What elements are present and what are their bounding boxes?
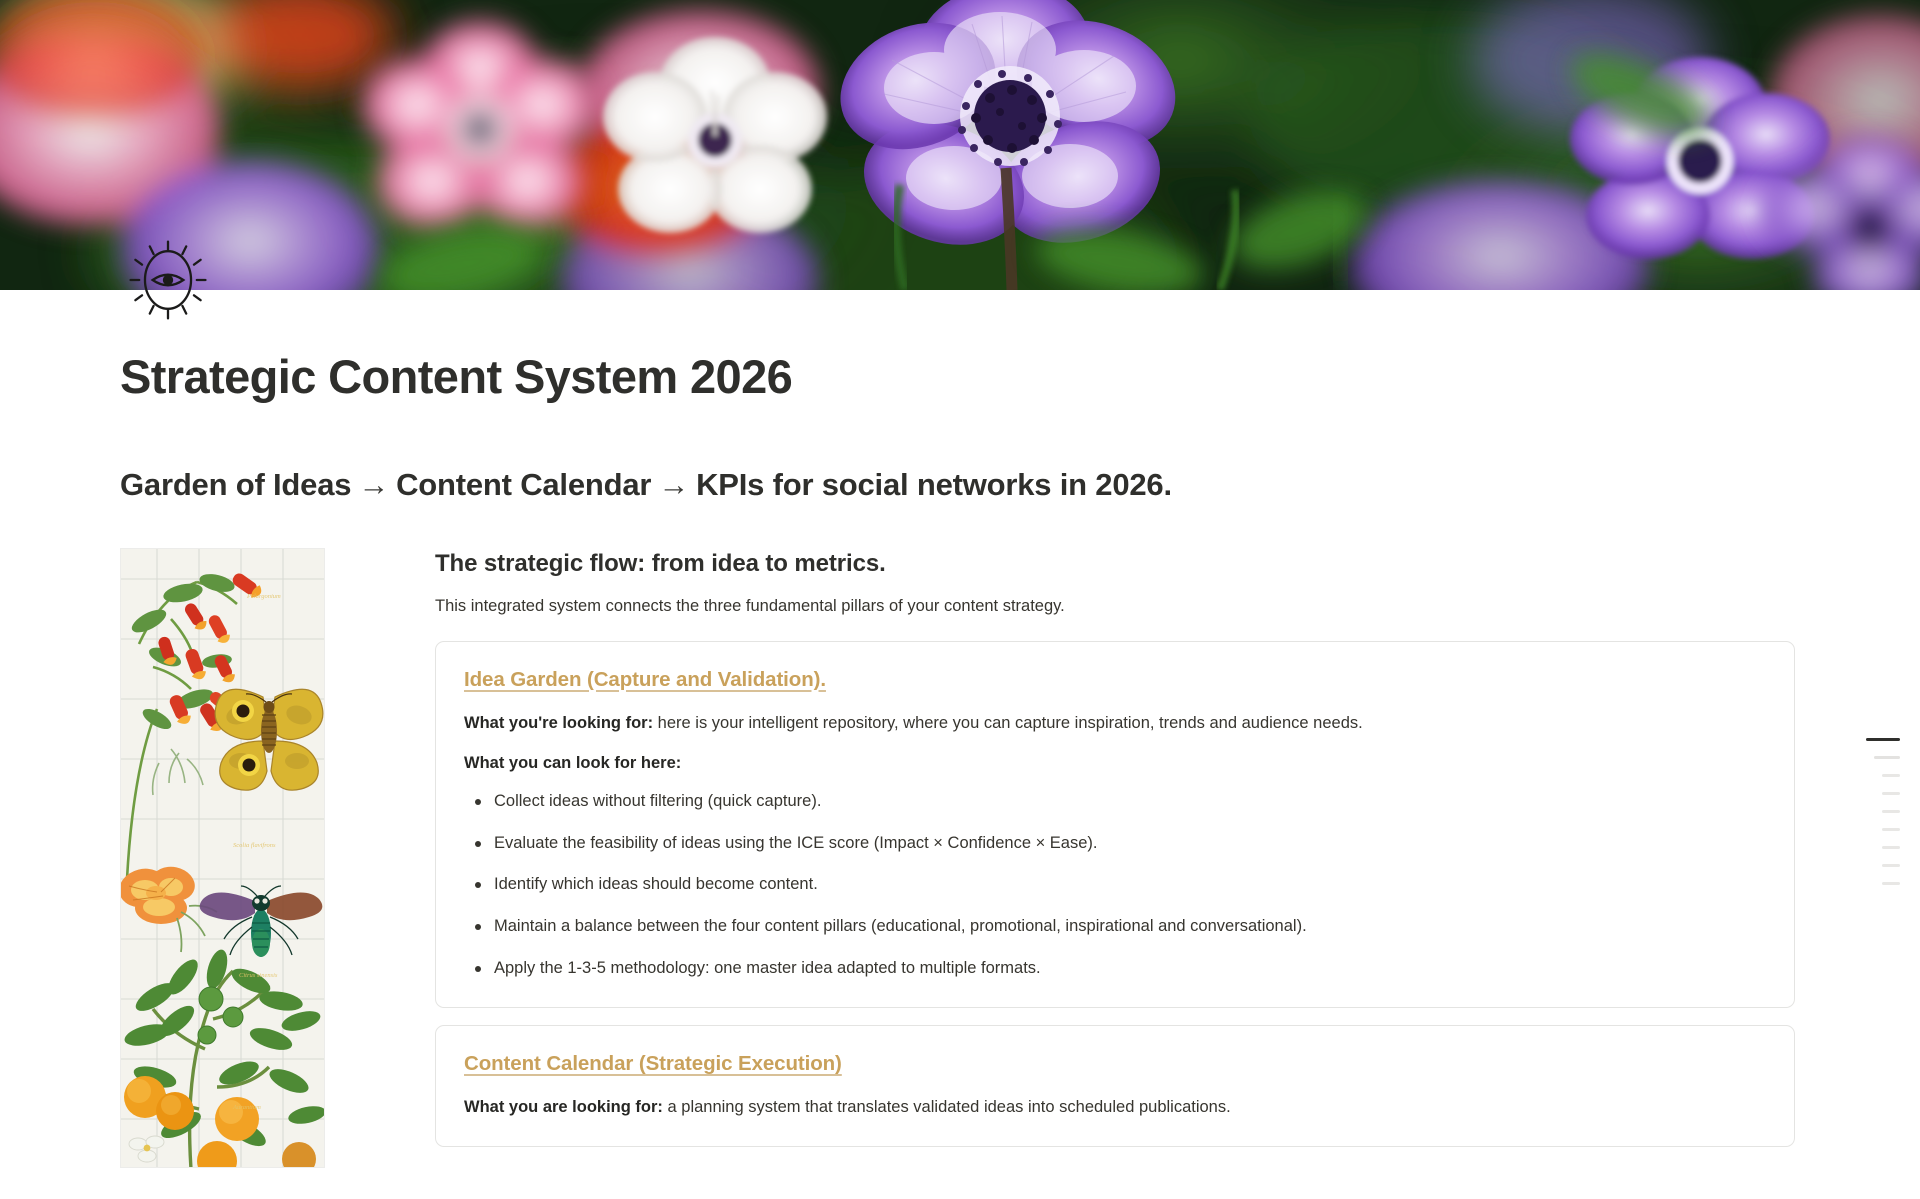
card-lead-paragraph: What you are looking for: a planning sys… xyxy=(464,1096,1764,1120)
card-lead-paragraph: What you're looking for: here is your in… xyxy=(464,712,1764,736)
toc-dash xyxy=(1866,738,1900,741)
list-item: Apply the 1-3-5 methodology: one master … xyxy=(464,957,1764,981)
card-lead-text: a planning system that translates valida… xyxy=(663,1098,1231,1116)
page-body: Strategic Content System 2026 Garden of … xyxy=(0,290,1920,1168)
card-lead-label: What you are looking for: xyxy=(464,1098,663,1116)
right-column: The strategic flow: from idea to metrics… xyxy=(325,548,1800,1147)
list-item: Collect ideas without filtering (quick c… xyxy=(464,790,1764,814)
cover-image xyxy=(0,0,1920,290)
breadcrumb-item-kpis[interactable]: KPIs for social networks in 2026. xyxy=(696,467,1172,502)
section-title: The strategic flow: from idea to metrics… xyxy=(435,548,1795,579)
svg-text:Scolia flavifrons: Scolia flavifrons xyxy=(233,842,276,849)
toc-item-4[interactable] xyxy=(1882,802,1910,820)
toc-dash xyxy=(1882,810,1900,813)
breadcrumb: Garden of Ideas→Content Calendar→KPIs fo… xyxy=(120,466,1800,505)
breadcrumb-item-content-calendar[interactable]: Content Calendar xyxy=(396,467,651,502)
list-item: Evaluate the feasibility of ideas using … xyxy=(464,832,1764,856)
toc-dash xyxy=(1882,846,1900,849)
pillar-card-content-calendar: Content Calendar (Strategic Execution) W… xyxy=(435,1025,1795,1147)
toc-item-8[interactable] xyxy=(1882,874,1910,892)
card-lead-text: here is your intelligent repository, whe… xyxy=(653,714,1363,732)
botanical-plate-illustration: Pelargonium Scolia flavifrons Citrus sin… xyxy=(120,548,325,1168)
toc-dash xyxy=(1882,882,1900,885)
breadcrumb-arrow-2: → xyxy=(651,467,696,502)
toc-dash xyxy=(1874,756,1900,759)
page-title: Strategic Content System 2026 xyxy=(120,290,1800,404)
toc-item-1[interactable] xyxy=(1874,748,1910,766)
toc-dash xyxy=(1882,792,1900,795)
card-lead-label: What you're looking for: xyxy=(464,714,653,732)
toc-dash xyxy=(1882,774,1900,777)
svg-text:Aurantium: Aurantium xyxy=(232,1104,261,1111)
svg-text:Pelargonium: Pelargonium xyxy=(246,593,281,600)
card-bullet-list: Collect ideas without filtering (quick c… xyxy=(464,790,1764,982)
toc-item-6[interactable] xyxy=(1882,838,1910,856)
toc-item-3[interactable] xyxy=(1882,784,1910,802)
toc-item-7[interactable] xyxy=(1882,856,1910,874)
svg-text:Citrus sinensis: Citrus sinensis xyxy=(239,972,278,979)
toc-item-5[interactable] xyxy=(1882,820,1910,838)
section-subtitle: This integrated system connects the thre… xyxy=(435,594,1795,619)
card-link-content-calendar[interactable]: Content Calendar (Strategic Execution) xyxy=(464,1052,842,1076)
page-cover-banner xyxy=(0,0,1920,290)
eye-sun-icon[interactable] xyxy=(120,232,216,328)
table-of-contents-minimap[interactable] xyxy=(1840,730,1910,892)
toc-item-0[interactable] xyxy=(1866,730,1910,748)
toc-item-2[interactable] xyxy=(1882,766,1910,784)
content-columns: Pelargonium Scolia flavifrons Citrus sin… xyxy=(120,548,1800,1168)
left-column: Pelargonium Scolia flavifrons Citrus sin… xyxy=(120,548,325,1168)
list-item: Identify which ideas should become conte… xyxy=(464,873,1764,897)
list-item: Maintain a balance between the four cont… xyxy=(464,915,1764,939)
breadcrumb-arrow-1: → xyxy=(351,467,396,502)
toc-dash xyxy=(1882,864,1900,867)
toc-dash xyxy=(1882,828,1900,831)
card-sub-label: What you can look for here: xyxy=(464,752,1764,776)
pillar-card-idea-garden: Idea Garden (Capture and Validation). Wh… xyxy=(435,641,1795,1008)
card-link-idea-garden[interactable]: Idea Garden (Capture and Validation). xyxy=(464,668,826,692)
breadcrumb-item-garden-of-ideas[interactable]: Garden of Ideas xyxy=(120,467,351,502)
